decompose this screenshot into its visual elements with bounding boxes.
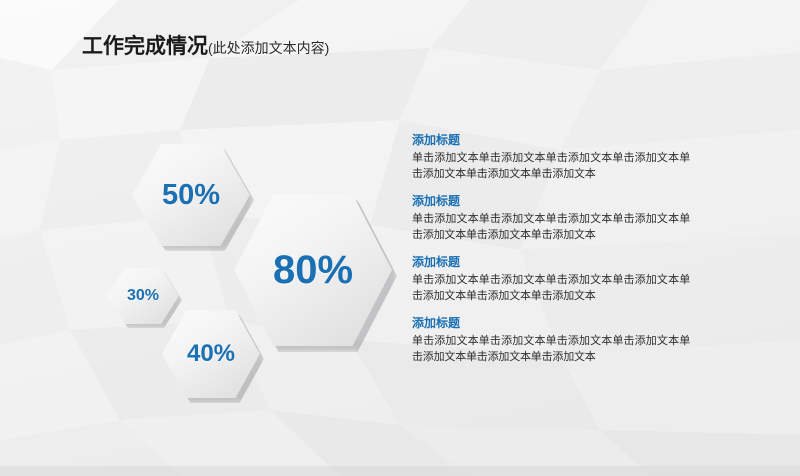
text-block-body: 单击添加文本单击添加文本单击添加文本单击添加文本单击添加文本单击添加文本单击添加…	[412, 150, 690, 182]
hexagon-label-80: 80%	[273, 250, 353, 290]
hexagon-label-30: 30%	[127, 288, 159, 304]
text-block-heading: 添加标题	[412, 193, 690, 209]
hexagon-label-50: 50%	[162, 181, 220, 210]
text-column: 添加标题 单击添加文本单击添加文本单击添加文本单击添加文本单击添加文本单击添加文…	[412, 132, 690, 365]
text-block: 添加标题 单击添加文本单击添加文本单击添加文本单击添加文本单击添加文本单击添加文…	[412, 132, 690, 182]
slide-canvas: 工作完成情况(此处添加文本内容) 50% 80% 30% 40% 添加标题 单击…	[0, 0, 800, 476]
text-block-body: 单击添加文本单击添加文本单击添加文本单击添加文本单击添加文本单击添加文本单击添加…	[412, 333, 690, 365]
text-block-body: 单击添加文本单击添加文本单击添加文本单击添加文本单击添加文本单击添加文本单击添加…	[412, 211, 690, 243]
text-block-heading: 添加标题	[412, 254, 690, 270]
text-block: 添加标题 单击添加文本单击添加文本单击添加文本单击添加文本单击添加文本单击添加文…	[412, 254, 690, 304]
text-block: 添加标题 单击添加文本单击添加文本单击添加文本单击添加文本单击添加文本单击添加文…	[412, 315, 690, 365]
hexagon-label-40: 40%	[187, 342, 235, 366]
text-block-body: 单击添加文本单击添加文本单击添加文本单击添加文本单击添加文本单击添加文本单击添加…	[412, 272, 690, 304]
text-block: 添加标题 单击添加文本单击添加文本单击添加文本单击添加文本单击添加文本单击添加文…	[412, 193, 690, 243]
text-block-heading: 添加标题	[412, 132, 690, 148]
text-block-heading: 添加标题	[412, 315, 690, 331]
